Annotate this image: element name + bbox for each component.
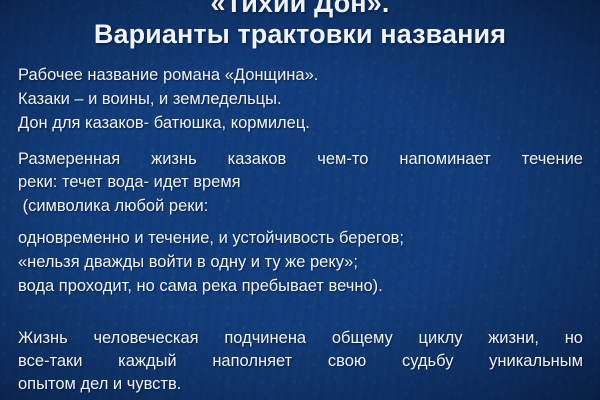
slide-title-line-2: Варианты трактовки названия [0, 19, 600, 50]
body-line: вода проходит, но сама река пребывает ве… [18, 276, 583, 296]
body-line: реки: течет вода- идет время [18, 172, 583, 192]
body-line: опытом дел и чувств. [18, 374, 583, 394]
body-line: Размеренная жизнь казаков чем-то напомин… [18, 149, 583, 169]
body-line: Казаки – и воины, и земледельцы. [18, 89, 583, 109]
body-line: все-таки каждый наполняет свою судьбу ун… [18, 351, 583, 371]
body-line: «нельзя дважды войти в одну и ту же реку… [18, 252, 583, 272]
body-line: Рабочее название романа «Донщина». [18, 65, 583, 85]
body-line: одновременно и течение, и устойчивость б… [18, 228, 583, 248]
slide-content: «Тихий Дон». Варианты трактовки названия… [0, 0, 600, 400]
slide-title-line-1: «Тихий Дон». [0, 0, 600, 19]
body-line: Дон для казаков- батюшка, кормилец. [18, 113, 583, 133]
body-line: Жизнь человеческая подчинена общему цикл… [18, 328, 583, 348]
body-line: (символика любой реки: [18, 196, 583, 216]
presentation-slide: «Тихий Дон». Варианты трактовки названия… [0, 0, 600, 400]
